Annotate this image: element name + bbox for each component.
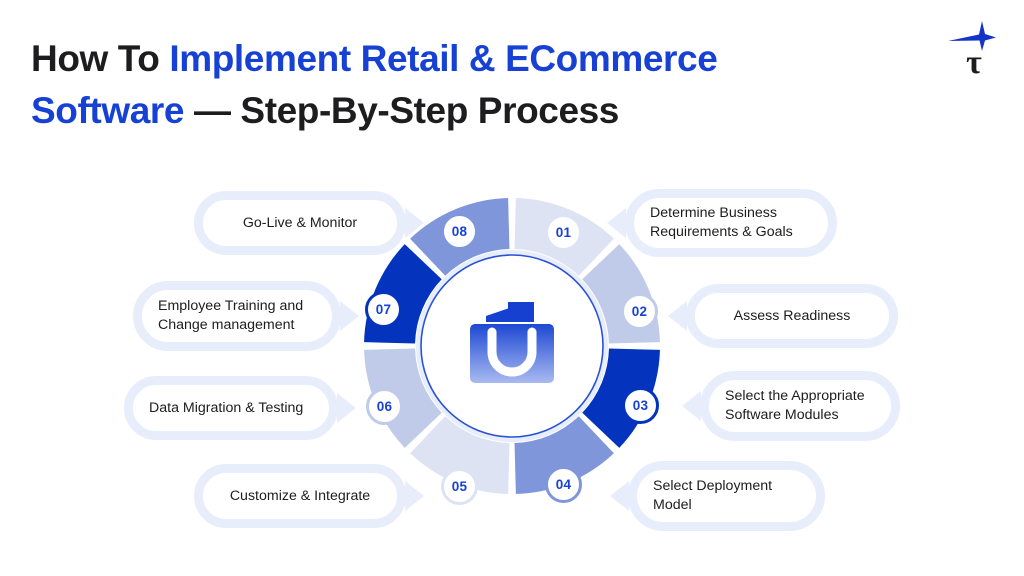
step-label-08[interactable]: Go-Live & Monitor (194, 191, 406, 255)
step-label-04[interactable]: Select Deployment Model (628, 461, 825, 531)
badge-label: 07 (376, 302, 391, 317)
step-label-05[interactable]: Customize & Integrate (194, 464, 406, 528)
pill-arrow-icon (337, 393, 356, 423)
step-label-03[interactable]: Select the Appropriate Software Modules (700, 371, 900, 441)
step-badge-05[interactable]: 05 (441, 468, 478, 505)
badge-label: 05 (452, 479, 467, 494)
badge-label: 01 (556, 225, 571, 240)
brand-logo: τ (944, 16, 1006, 76)
infographic-canvas: How To Implement Retail & ECommerce Soft… (0, 0, 1024, 576)
step-label-02[interactable]: Assess Readiness (686, 284, 898, 348)
step-badge-04[interactable]: 04 (545, 466, 582, 503)
step-label-07[interactable]: Employee Training and Change management (133, 281, 341, 351)
badge-label: 04 (556, 477, 571, 492)
badge-label: 08 (452, 224, 467, 239)
pill-arrow-icon (610, 481, 629, 511)
badge-label: 03 (633, 398, 648, 413)
badge-label: 06 (377, 399, 392, 414)
step-badge-06[interactable]: 06 (366, 388, 403, 425)
pill-arrow-icon (405, 481, 424, 511)
title-part-1: How To (31, 38, 169, 79)
title-part-2: — Step-By-Step Process (184, 90, 619, 131)
step-label-01[interactable]: Determine Business Requirements & Goals (625, 189, 837, 257)
pill-arrow-icon (668, 301, 687, 331)
step-badge-03[interactable]: 03 (622, 387, 659, 424)
page-title: How To Implement Retail & ECommerce Soft… (31, 33, 791, 137)
step-label-06[interactable]: Data Migration & Testing (124, 376, 338, 440)
tau-letter: τ (966, 44, 982, 76)
step-badge-02[interactable]: 02 (621, 293, 658, 330)
step-badge-08[interactable]: 08 (441, 213, 478, 250)
pill-arrow-icon (682, 391, 701, 421)
badge-label: 02 (632, 304, 647, 319)
pill-arrow-icon (607, 208, 626, 238)
pill-arrow-icon (405, 208, 424, 238)
step-badge-01[interactable]: 01 (545, 214, 582, 251)
step-badge-07[interactable]: 07 (365, 291, 402, 328)
tau-star-logo-icon: τ (944, 16, 1006, 76)
pill-arrow-icon (340, 301, 359, 331)
